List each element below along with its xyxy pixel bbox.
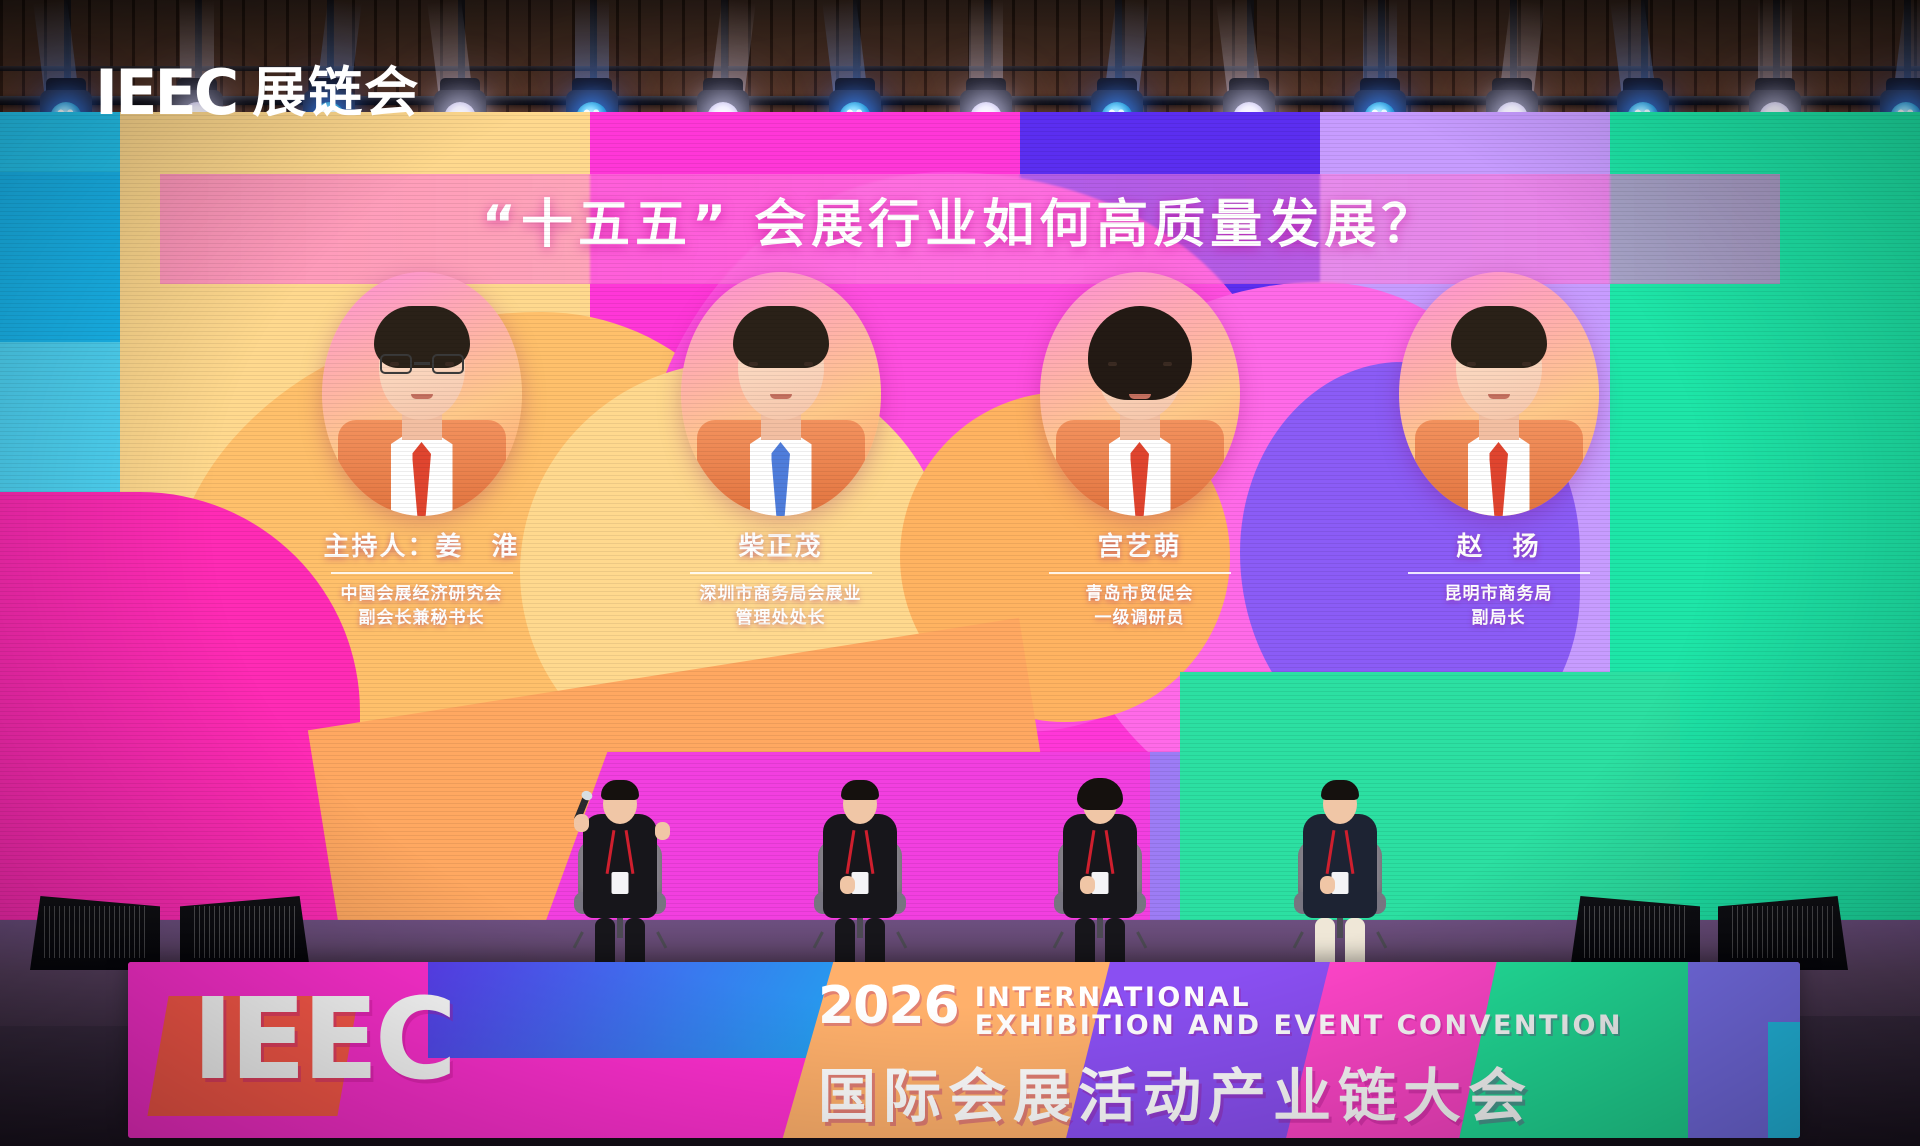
panelist-org-line-1: 青岛市贸促会 [1022,582,1257,606]
panelist-org-line-1: 昆明市商务局 [1381,582,1616,606]
avatar-ring [1040,272,1240,516]
portrait-eye-right [1522,362,1531,366]
panelist-name: 赵 扬 [1381,526,1616,563]
session-title: “十五五” 会展行业如何高质量发展？ [0,182,1920,257]
panelist-organization: 昆明市商务局副局长 [1381,582,1616,630]
avatar-portrait [697,302,865,516]
panelist-name: 柴正茂 [663,526,898,563]
stage-monitor-speaker-right-1 [1570,896,1700,970]
panelist-divider [331,572,513,574]
panelist-avatar [322,272,522,516]
panelist-organization: 青岛市贸促会一级调研员 [1022,582,1257,630]
hand-resting [1080,876,1095,894]
header-logo-cn: 展链会 [252,66,420,120]
panelist-portrait-row: 主持人：姜 淮中国会展经济研究会副会长兼秘书长柴正茂深圳市商务局会展业管理处处长… [0,272,1920,792]
led-backdrop-screen: “十五五” 会展行业如何高质量发展？ 主持人：姜 淮中国会展经济研究会副会长兼秘… [0,112,1920,932]
panelist-avatar [1040,272,1240,516]
panelist-divider [1408,572,1590,574]
banner-text-block: 2026 INTERNATIONAL EXHIBITION AND EVENT … [818,982,1758,1133]
portrait-mouth [411,394,433,399]
banner-shape-cyan [1768,1022,1800,1138]
panelist-organization: 深圳市商务局会展业管理处处长 [663,582,898,630]
portrait-eye-left [1467,362,1476,366]
panelist-seated-4 [1280,760,1400,950]
portrait-hair [733,306,829,368]
name-badge [612,872,629,894]
panelist-seated-3 [1040,760,1160,950]
portrait-mouth [770,394,792,399]
stage-monitor-speaker-left-1 [30,896,160,970]
panelist-card-3: 宫艺萌青岛市贸促会一级调研员 [1022,272,1257,792]
venue-header-logo: IEEC 展链会 [95,62,420,124]
portrait-eye-right [1163,362,1172,366]
hand-resting [1320,876,1335,894]
banner-year: 2026 [818,982,959,1031]
banner-en-line2: EXHIBITION AND EVENT CONVENTION [975,1012,1623,1040]
portrait-mouth [1488,394,1510,399]
panelist-card-4: 赵 扬昆明市商务局副局长 [1381,272,1616,792]
avatar-portrait [1056,302,1224,516]
panelist-org-line-2: 一级调研员 [1022,606,1257,630]
panelist-name: 宫艺萌 [1022,526,1257,563]
panelist-card-1: 主持人：姜 淮中国会展经济研究会副会长兼秘书长 [304,272,539,792]
seated-hair [1077,778,1123,810]
panelist-divider [1049,572,1231,574]
seated-hair [841,780,879,800]
portrait-mouth [1129,394,1151,399]
banner-en-line1: INTERNATIONAL [975,984,1623,1012]
seated-hair [1321,780,1359,800]
hand-gesturing [655,822,670,840]
panelist-card-2: 柴正茂深圳市商务局会展业管理处处长 [663,272,898,792]
panelist-seated-2 [800,760,920,950]
banner-chinese-title: 国际会展活动产业链大会 [818,1049,1758,1133]
speaker-with-microphone [560,760,680,950]
panelist-divider [690,572,872,574]
avatar-ring [322,272,522,516]
portrait-eye-left [1108,362,1117,366]
avatar-portrait [1415,302,1583,516]
avatar-ring [1399,272,1599,516]
stage-monitor-speaker-right-2 [1718,896,1848,970]
panelist-name: 主持人：姜 淮 [304,526,539,563]
panelist-org-line-1: 深圳市商务局会展业 [663,582,898,606]
hand-resting [840,876,855,894]
header-logo-mark: IEEC [95,62,236,124]
portrait-hair [1088,306,1192,400]
panelist-org-line-2: 管理处处长 [663,606,898,630]
hand-holding-mic [574,814,589,832]
panelist-avatar [1399,272,1599,516]
avatar-ring [681,272,881,516]
panelist-org-line-2: 副会长兼秘书长 [304,606,539,630]
lanyard-badge [607,830,633,892]
stage-monitor-speaker-left-2 [180,896,310,970]
portrait-eye-left [390,362,399,366]
portrait-eye-right [445,362,454,366]
avatar-portrait [338,302,506,516]
seated-hair [601,780,639,800]
portrait-hair [1451,306,1547,368]
portrait-eye-right [804,362,813,366]
panelist-organization: 中国会展经济研究会副会长兼秘书长 [304,582,539,630]
stage-front-banner: IEEC 2026 INTERNATIONAL EXHIBITION AND E… [128,962,1800,1138]
conference-stage-photo: IEEC 展链会 “十五五” 会展行业如何高质量发展？ 主持人：姜 淮中国会展经… [0,0,1920,1146]
panelist-org-line-1: 中国会展经济研究会 [304,582,539,606]
panelist-org-line-2: 副局长 [1381,606,1616,630]
banner-english-title: INTERNATIONAL EXHIBITION AND EVENT CONVE… [975,982,1623,1041]
panelist-avatar [681,272,881,516]
portrait-eye-left [749,362,758,366]
banner-ieec-logo: IEEC [192,984,453,1096]
